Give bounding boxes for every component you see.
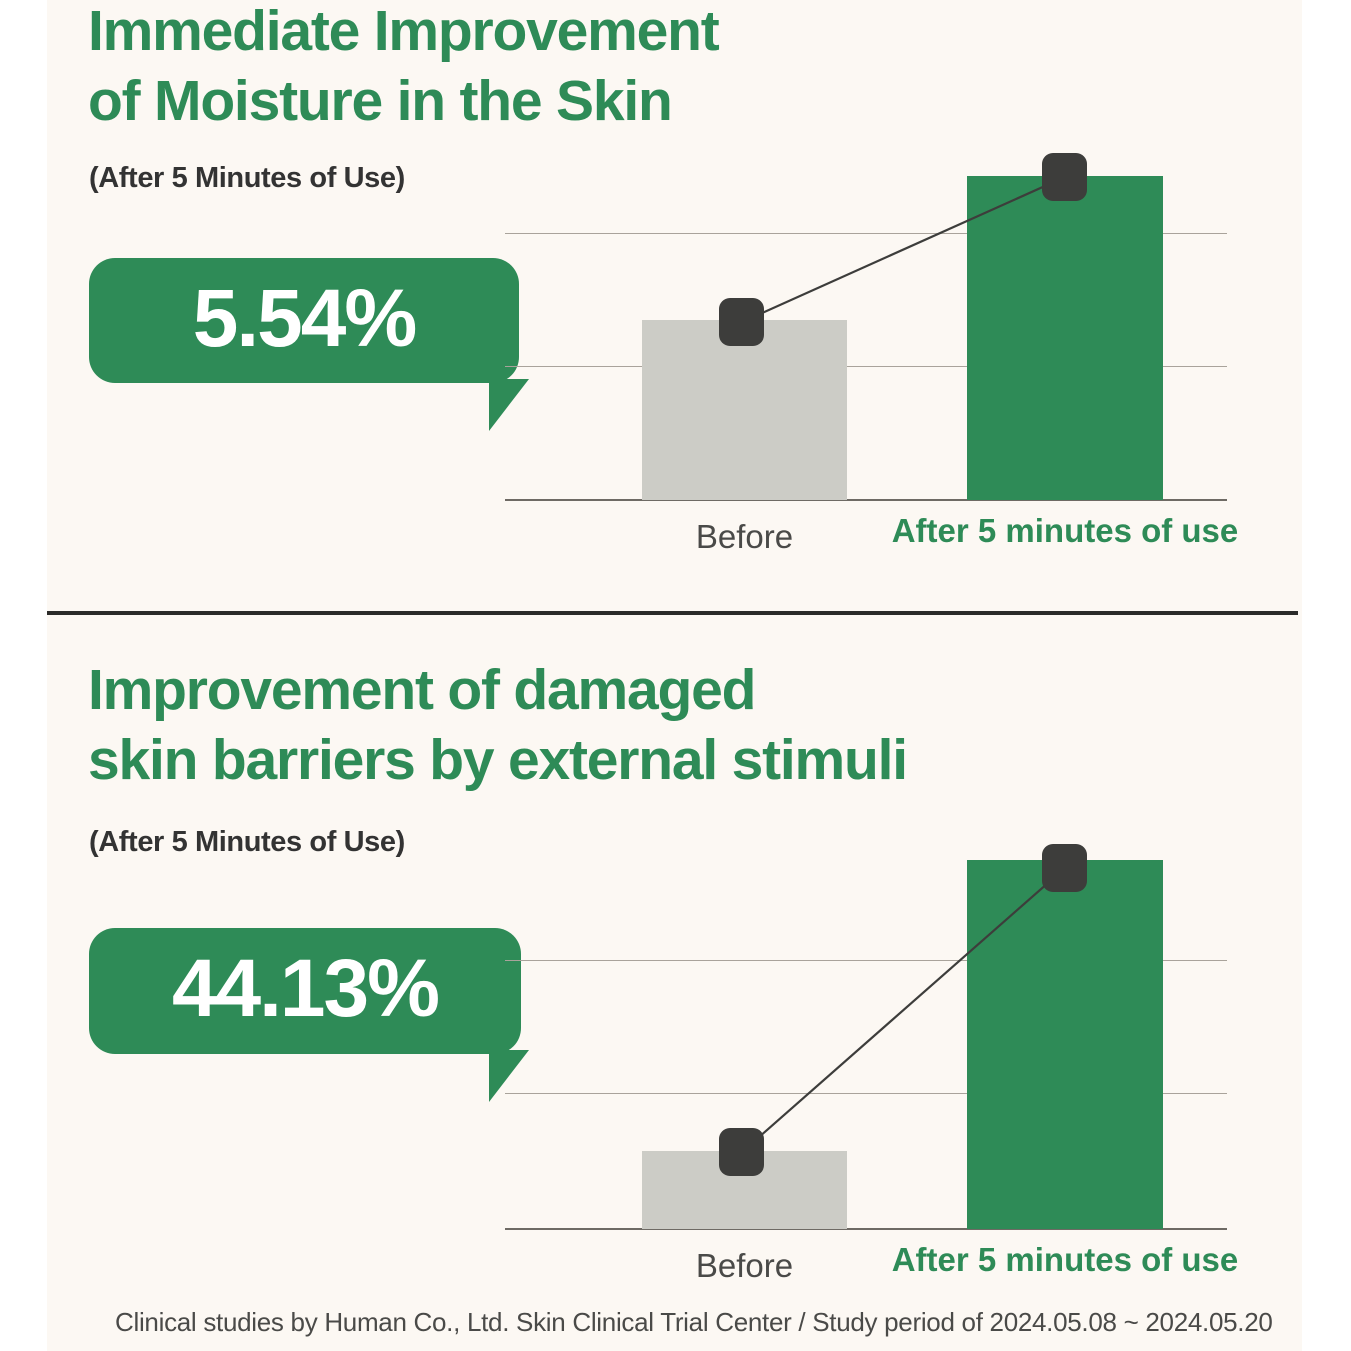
infographic-page: Immediate Improvement of Moisture in the… [0,0,1351,1351]
section1-heading: Immediate Improvement of Moisture in the… [88,0,1048,136]
trend-connector-line [505,140,1230,570]
section1-callout-value: 5.54% [193,278,416,360]
axis-label-before: Before [642,518,847,556]
marker-after [1042,844,1087,892]
section2-callout-value: 44.13% [172,948,438,1030]
marker-before [719,1128,764,1176]
axis-label-after: After 5 minutes of use [860,512,1270,550]
section-divider [47,611,1298,615]
section2-subheading: (After 5 Minutes of Use) [89,826,405,859]
marker-before [719,298,764,346]
chart-moisture: Before After 5 minutes of use [505,140,1230,570]
section1-subheading: (After 5 Minutes of Use) [89,162,405,195]
footer-credit: Clinical studies by Human Co., Ltd. Skin… [115,1307,1273,1338]
section2-heading: Improvement of damaged skin barriers by … [88,655,1248,795]
chart-barrier: Before After 5 minutes of use [505,840,1230,1300]
marker-after [1042,153,1087,201]
axis-label-after: After 5 minutes of use [860,1241,1270,1279]
axis-label-before: Before [642,1247,847,1285]
content-canvas: Immediate Improvement of Moisture in the… [47,0,1302,1351]
callout-bubble-body: 44.13% [89,928,521,1054]
callout-bubble-body: 5.54% [89,258,519,383]
trend-connector-line [505,840,1230,1300]
